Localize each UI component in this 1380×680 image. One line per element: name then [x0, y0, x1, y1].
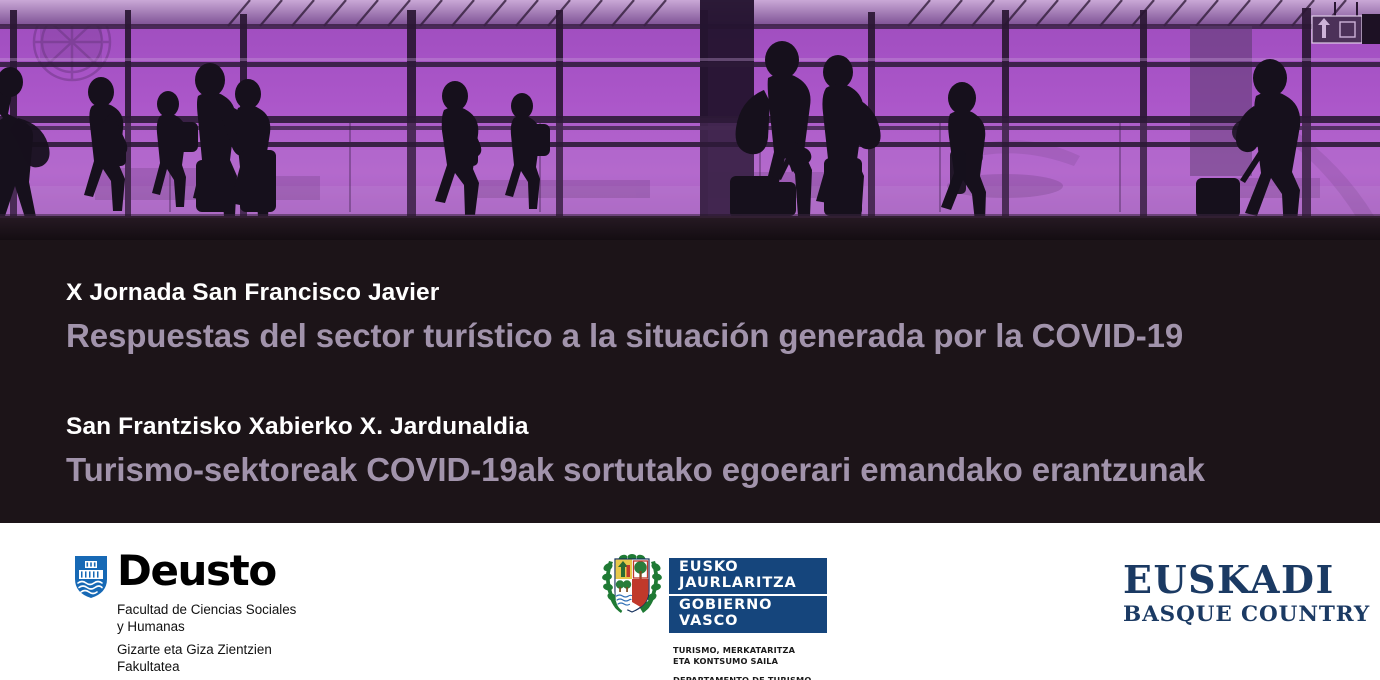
kicker-spanish: X Jornada San Francisco Javier [66, 278, 1380, 309]
deusto-line-3: Gizarte eta Giza Zientzien [117, 642, 296, 659]
gv-department-lines: TURISMO, MERKATARITZA ETA KONTSUMO SAILA… [673, 645, 827, 680]
title-group-basque: San Frantzisko Xabierko X. Jardunaldia T… [66, 412, 1380, 490]
title-band: X Jornada San Francisco Javier Respuesta… [0, 240, 1380, 523]
gv-dept-basque-2: ETA KONTSUMO SAILA [673, 656, 827, 667]
deusto-line-4: Fakultatea [117, 659, 296, 676]
deusto-shield-icon [74, 555, 108, 599]
title-group-spanish: X Jornada San Francisco Javier Respuesta… [66, 278, 1380, 356]
deusto-wordmark: Deusto [117, 552, 276, 591]
logo-gobierno-vasco: EUSKO JAURLARITZA GOBIERNO VASCO TURISMO… [601, 551, 827, 680]
headline-basque: Turismo-sektoreak COVID-19ak sortutako e… [66, 450, 1380, 490]
gv-bar-gobierno-vasco: GOBIERNO VASCO [669, 596, 827, 632]
footer-logos: Deusto Facultad de Ciencias Sociales y H… [0, 523, 1380, 680]
headline-spanish: Respuestas del sector turístico a la sit… [66, 316, 1380, 356]
deusto-line-1: Facultad de Ciencias Sociales [117, 602, 296, 619]
logo-euskadi-basque-country: EUSKADI BASQUE COUNTRY [1123, 561, 1370, 626]
basque-coat-of-arms-icon [601, 551, 663, 615]
gv-bar-eusko-jaurlaritza: EUSKO JAURLARITZA [669, 558, 827, 594]
deusto-faculty-lines: Facultad de Ciencias Sociales y Humanas … [117, 602, 296, 675]
event-poster: X Jornada San Francisco Javier Respuesta… [0, 0, 1380, 680]
deusto-line-2: y Humanas [117, 619, 296, 636]
basque-country-wordmark: BASQUE COUNTRY [1123, 604, 1370, 626]
logo-deusto: Deusto Facultad de Ciencias Sociales y H… [74, 555, 296, 675]
gv-dept-basque-1: TURISMO, MERKATARITZA [673, 645, 827, 656]
gv-dept-spanish-1: DEPARTAMENTO DE TURISMO, [673, 675, 827, 680]
euskadi-wordmark: EUSKADI [1123, 561, 1370, 599]
hero-image-airport-travelers [0, 0, 1380, 240]
hero-illustration [0, 0, 1380, 240]
kicker-basque: San Frantzisko Xabierko X. Jardunaldia [66, 412, 1380, 443]
